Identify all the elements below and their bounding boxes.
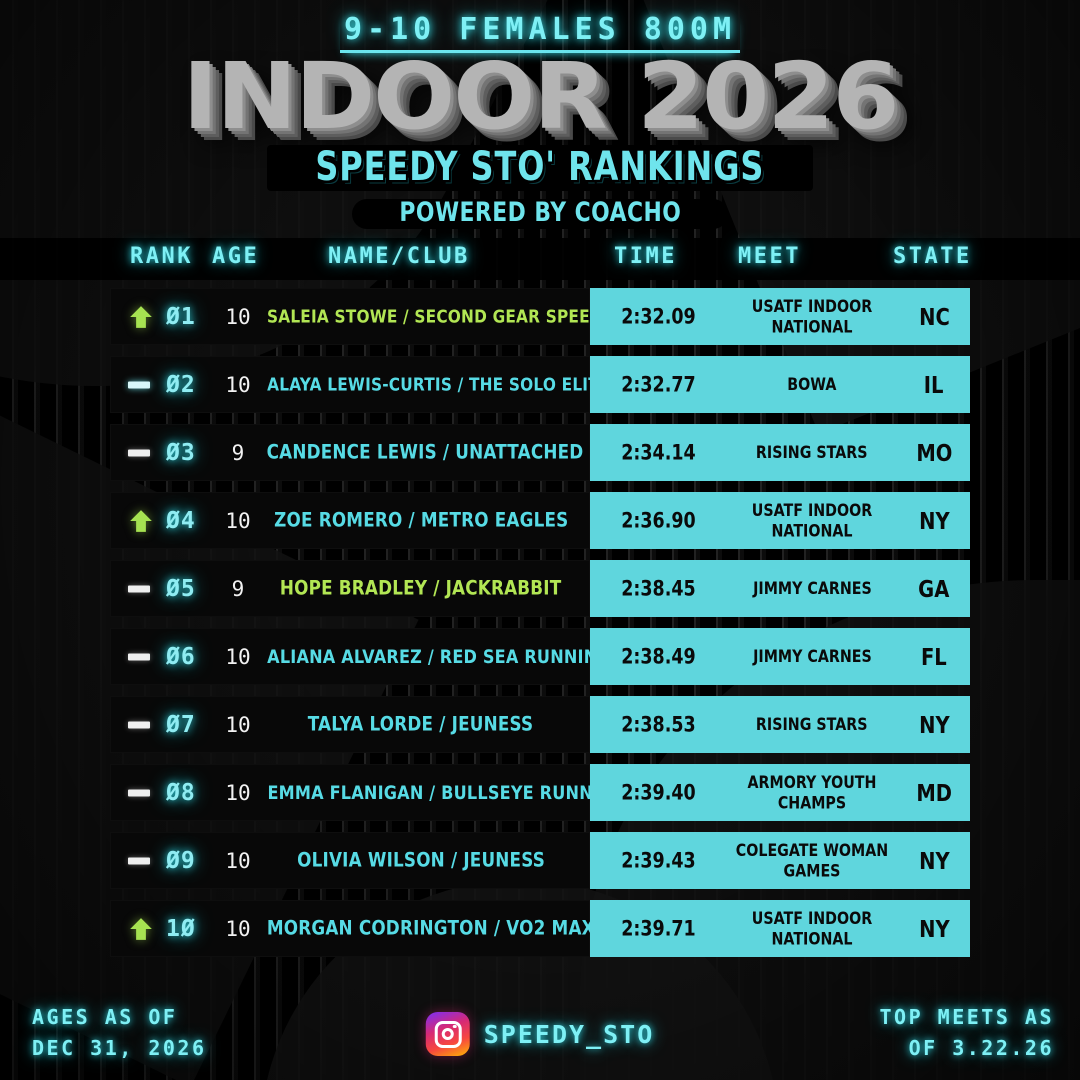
state-value: NC [898, 305, 970, 329]
rank-value: Ø9 [166, 848, 196, 874]
state-value: NY [898, 849, 970, 873]
table-row[interactable]: Ø39CANDENCE LEWIS / UNATTACHED2:34.14RIS… [0, 424, 1080, 481]
column-header-age: AGE [212, 244, 259, 269]
row-result-panel: 2:38.49JIMMY CARNESFL [590, 628, 970, 685]
state-value: IL [898, 373, 970, 397]
name-club-value[interactable]: TALYA LORDE / JEUNESS [260, 715, 582, 735]
column-header-name-club: NAME/CLUB [328, 244, 470, 269]
row-athlete-panel: Ø59HOPE BRADLEY / JACKRABBIT [110, 560, 590, 617]
top-meets-note: TOP MEETS AS OF 3.22.26 [880, 1002, 1055, 1064]
subtitle-group: SPEEDY STO' RANKINGS POWERED BY COACHO [0, 145, 1080, 229]
row-result-panel: 2:32.77BOWAIL [590, 356, 970, 413]
arrow-up-icon [128, 508, 154, 534]
rank-value: Ø2 [166, 372, 196, 398]
arrow-up-icon [128, 916, 154, 942]
header: 9-10 FEMALES 800M INDOOR 2026 SPEEDY STO… [0, 0, 1080, 229]
name-club-value[interactable]: ALAYA LEWIS-CURTIS / THE SOLO ELITE [260, 375, 582, 395]
rank-value: Ø1 [166, 304, 196, 330]
table-row[interactable]: Ø710TALYA LORDE / JEUNESS2:38.53RISING S… [0, 696, 1080, 753]
rank-value: 1Ø [166, 916, 196, 942]
time-value: 2:39.43 [590, 850, 726, 872]
meet-value: RISING STARS [726, 715, 898, 734]
powered-by-bar: POWERED BY COACHO [352, 199, 729, 229]
rank-value: Ø5 [166, 576, 196, 602]
row-result-panel: 2:39.40ARMORY YOUTH CHAMPSMD [590, 764, 970, 821]
row-athlete-panel: Ø410ZOE ROMERO / METRO EAGLES [110, 492, 590, 549]
page-title: INDOOR 2026 [0, 53, 1080, 141]
rank-value: Ø4 [166, 508, 196, 534]
table-row[interactable]: Ø110SALEIA STOWE / SECOND GEAR SPEED2:32… [0, 288, 1080, 345]
rank-value: Ø7 [166, 712, 196, 738]
name-club-value[interactable]: EMMA FLANIGAN / BULLSEYE RUNNING [260, 782, 582, 803]
row-result-panel: 2:39.71USATF INDOOR NATIONALNY [590, 900, 970, 957]
meet-value: BOWA [726, 375, 898, 394]
meet-value: COLEGATE WOMAN GAMES [726, 842, 898, 880]
row-result-panel: 2:39.43COLEGATE WOMAN GAMESNY [590, 832, 970, 889]
row-result-panel: 2:38.45JIMMY CARNESGA [590, 560, 970, 617]
age-value: 10 [216, 713, 260, 737]
state-value: NY [898, 509, 970, 533]
row-athlete-panel: 1Ø10MORGAN CODRINGTON / VO2 MAX [110, 900, 590, 957]
table-row[interactable]: Ø210ALAYA LEWIS-CURTIS / THE SOLO ELITE2… [0, 356, 1080, 413]
age-value: 9 [216, 577, 260, 601]
dash-white-icon [128, 653, 150, 660]
subtitle: SPEEDY STO' RANKINGS [315, 144, 764, 191]
name-club-value[interactable]: MORGAN CODRINGTON / VO2 MAX [260, 919, 582, 939]
row-athlete-panel: Ø810EMMA FLANIGAN / BULLSEYE RUNNING [110, 764, 590, 821]
row-athlete-panel: Ø210ALAYA LEWIS-CURTIS / THE SOLO ELITE [110, 356, 590, 413]
instagram-icon-dot [453, 1025, 457, 1029]
name-club-value[interactable]: HOPE BRADLEY / JACKRABBIT [260, 579, 582, 599]
time-value: 2:39.40 [590, 782, 726, 804]
arrow-up-icon [128, 304, 154, 330]
column-header-meet: MEET [738, 244, 801, 269]
name-club-value[interactable]: ALIANA ALVAREZ / RED SEA RUNNING [260, 646, 582, 667]
time-value: 2:38.49 [590, 646, 726, 668]
state-value: NY [898, 917, 970, 941]
name-club-value[interactable]: ZOE ROMERO / METRO EAGLES [260, 511, 582, 531]
name-club-value[interactable]: OLIVIA WILSON / JEUNESS [260, 851, 582, 871]
time-value: 2:39.71 [590, 918, 726, 940]
table-column-headers: RANK AGE NAME/CLUB TIME MEET STATE [0, 238, 1080, 280]
column-header-rank: RANK [130, 244, 193, 269]
state-value: FL [898, 645, 970, 669]
footer: AGES AS OF DEC 31, 2026 SPEEDY_STO TOP M… [0, 994, 1080, 1080]
table-row[interactable]: Ø910OLIVIA WILSON / JEUNESS2:39.43COLEGA… [0, 832, 1080, 889]
time-value: 2:38.53 [590, 714, 726, 736]
meet-value: RISING STARS [726, 443, 898, 462]
meet-value: JIMMY CARNES [726, 579, 898, 598]
time-value: 2:38.45 [590, 578, 726, 600]
name-club-value[interactable]: SALEIA STOWE / SECOND GEAR SPEED [260, 307, 582, 327]
rank-value: Ø3 [166, 440, 196, 466]
time-value: 2:32.09 [590, 306, 726, 328]
powered-by-label: POWERED BY COACHO [399, 198, 681, 228]
age-value: 10 [216, 645, 260, 669]
age-value: 10 [216, 781, 260, 805]
age-value: 10 [216, 917, 260, 941]
instagram-credit[interactable]: SPEEDY_STO [426, 1012, 655, 1056]
rank-value: Ø6 [166, 644, 196, 670]
row-athlete-panel: Ø910OLIVIA WILSON / JEUNESS [110, 832, 590, 889]
table-row[interactable]: Ø810EMMA FLANIGAN / BULLSEYE RUNNING2:39… [0, 764, 1080, 821]
time-value: 2:34.14 [590, 442, 726, 464]
powered-by-group: POWERED BY COACHO [0, 199, 1080, 229]
state-value: NY [898, 713, 970, 737]
meet-value: JIMMY CARNES [726, 647, 898, 666]
instagram-icon-lens [442, 1028, 454, 1040]
row-result-panel: 2:34.14RISING STARSMO [590, 424, 970, 481]
row-athlete-panel: Ø39CANDENCE LEWIS / UNATTACHED [110, 424, 590, 481]
dash-white-icon [128, 585, 150, 592]
time-value: 2:32.77 [590, 374, 726, 396]
row-athlete-panel: Ø710TALYA LORDE / JEUNESS [110, 696, 590, 753]
row-athlete-panel: Ø610ALIANA ALVAREZ / RED SEA RUNNING [110, 628, 590, 685]
age-value: 10 [216, 509, 260, 533]
rankings-table-body: Ø110SALEIA STOWE / SECOND GEAR SPEED2:32… [0, 288, 1080, 968]
ages-as-of-line1: AGES AS OF [32, 1002, 207, 1033]
dash-white-icon [128, 789, 150, 796]
dash-cyan-icon [128, 381, 150, 388]
ages-as-of-note: AGES AS OF DEC 31, 2026 [32, 1002, 207, 1064]
row-athlete-panel: Ø110SALEIA STOWE / SECOND GEAR SPEED [110, 288, 590, 345]
time-value: 2:36.90 [590, 510, 726, 532]
row-result-panel: 2:38.53RISING STARSNY [590, 696, 970, 753]
dash-white-icon [128, 721, 150, 728]
age-value: 9 [216, 441, 260, 465]
table-row[interactable]: Ø410ZOE ROMERO / METRO EAGLES2:36.90USAT… [0, 492, 1080, 549]
state-value: GA [898, 577, 970, 601]
top-meets-line1: TOP MEETS AS [880, 1002, 1055, 1033]
row-result-panel: 2:32.09USATF INDOOR NATIONALNC [590, 288, 970, 345]
meet-value: USATF INDOOR NATIONAL [726, 910, 898, 948]
table-row[interactable]: 1Ø10MORGAN CODRINGTON / VO2 MAX2:39.71US… [0, 900, 1080, 957]
column-header-time: TIME [614, 244, 677, 269]
subtitle-bar: SPEEDY STO' RANKINGS [267, 145, 813, 191]
table-row[interactable]: Ø59HOPE BRADLEY / JACKRABBIT2:38.45JIMMY… [0, 560, 1080, 617]
ranking-graphic: 9-10 FEMALES 800M INDOOR 2026 SPEEDY STO… [0, 0, 1080, 1080]
dash-white-icon [128, 449, 150, 456]
age-value: 10 [216, 849, 260, 873]
top-meets-line2: OF 3.22.26 [880, 1033, 1055, 1064]
dash-white-icon [128, 857, 150, 864]
meet-value: ARMORY YOUTH CHAMPS [726, 774, 898, 812]
event-category: 9-10 FEMALES 800M [0, 0, 1080, 47]
age-value: 10 [216, 305, 260, 329]
row-result-panel: 2:36.90USATF INDOOR NATIONALNY [590, 492, 970, 549]
name-club-value[interactable]: CANDENCE LEWIS / UNATTACHED [260, 443, 582, 463]
instagram-handle[interactable]: SPEEDY_STO [484, 1020, 655, 1049]
instagram-icon-frame [434, 1021, 461, 1048]
instagram-icon[interactable] [426, 1012, 470, 1056]
age-value: 10 [216, 373, 260, 397]
state-value: MO [898, 441, 970, 465]
table-row[interactable]: Ø610ALIANA ALVAREZ / RED SEA RUNNING2:38… [0, 628, 1080, 685]
meet-value: USATF INDOOR NATIONAL [726, 298, 898, 336]
meet-value: USATF INDOOR NATIONAL [726, 502, 898, 540]
ages-as-of-line2: DEC 31, 2026 [32, 1033, 207, 1064]
state-value: MD [898, 781, 970, 805]
column-header-state: STATE [893, 244, 972, 269]
rank-value: Ø8 [166, 780, 196, 806]
